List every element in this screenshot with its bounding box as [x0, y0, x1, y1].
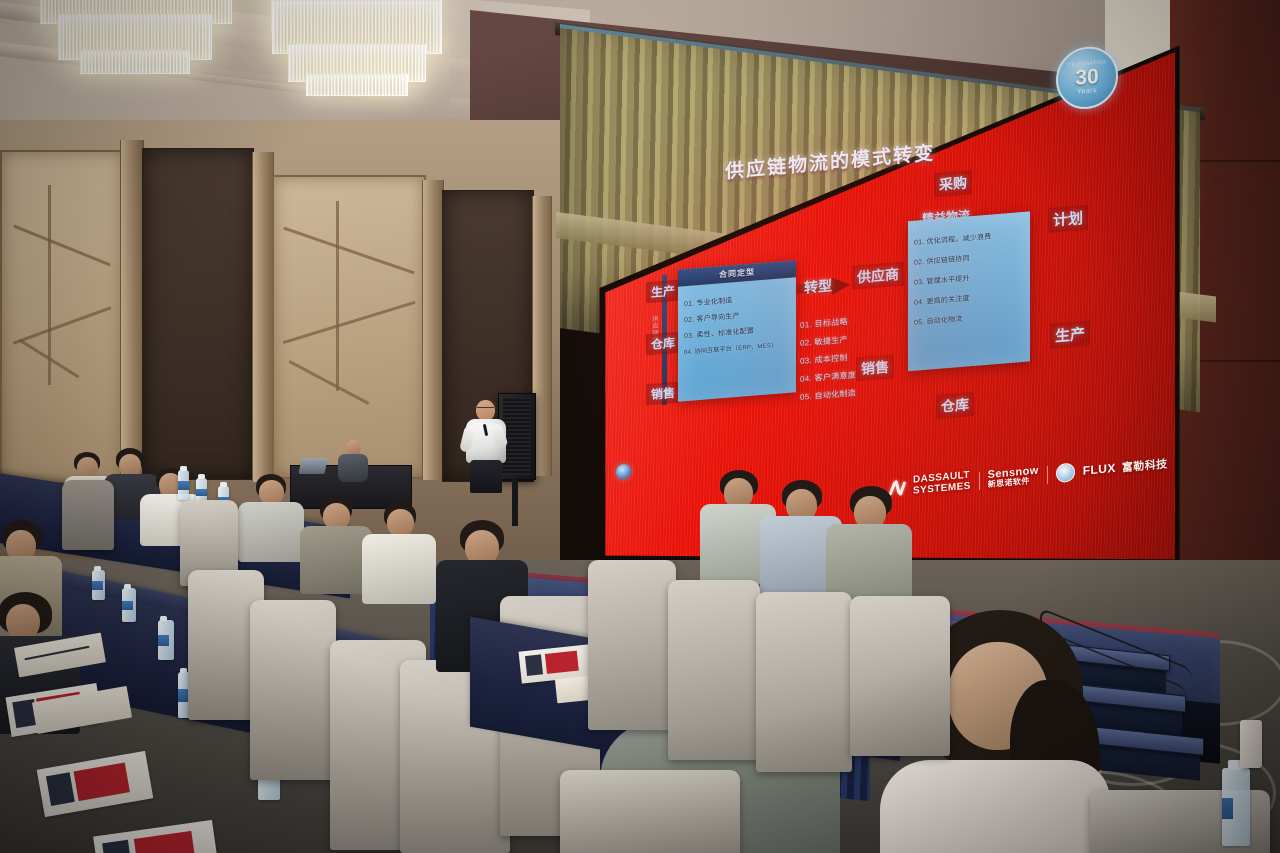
- water-bottle[interactable]: [158, 620, 174, 660]
- audience-person: [238, 474, 304, 560]
- chair[interactable]: [560, 770, 740, 853]
- tech-operator: [338, 440, 368, 480]
- presenter-trousers: [470, 460, 502, 493]
- chair[interactable]: [756, 592, 852, 772]
- chair[interactable]: [668, 580, 760, 760]
- water-bottle[interactable]: [1222, 768, 1250, 846]
- chandelier: [272, 0, 440, 105]
- chair[interactable]: [250, 600, 336, 780]
- audience-person: [362, 502, 436, 602]
- tumbler[interactable]: [1240, 720, 1262, 768]
- chair[interactable]: [850, 596, 950, 756]
- wall-lattice-panel: [272, 175, 426, 479]
- presenter: [462, 400, 510, 490]
- wall-pilaster: [422, 180, 444, 480]
- speaker-stand: [512, 478, 518, 526]
- water-bottle[interactable]: [92, 570, 105, 600]
- presenter-glasses: [477, 407, 494, 412]
- tech-laptop: [299, 458, 328, 474]
- chair[interactable]: [588, 560, 676, 730]
- wall-lattice-panel: [0, 150, 124, 484]
- conference-room-photo: 供应链物流的模式转变 CELEBRATING 30 Years 供应链流程 生产…: [0, 0, 1280, 853]
- water-bottle[interactable]: [178, 470, 189, 500]
- water-bottle[interactable]: [122, 588, 136, 622]
- chair[interactable]: [62, 480, 114, 550]
- chandelier: [40, 0, 230, 100]
- wall-pilaster: [120, 140, 144, 490]
